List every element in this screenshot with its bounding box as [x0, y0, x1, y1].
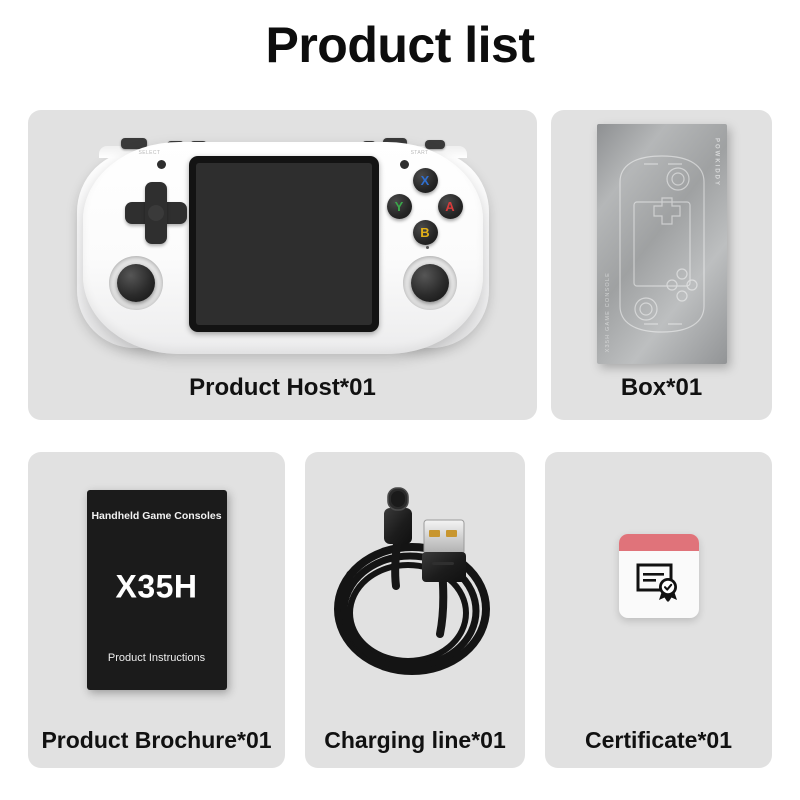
dpad-center	[148, 205, 164, 221]
brochure-cover: Handheld Game Consoles X35H Product Inst…	[87, 490, 227, 690]
certificate-accent-bar	[619, 534, 699, 551]
face-button-cluster: X Y A B	[387, 168, 463, 248]
certificate-card	[619, 534, 699, 618]
usb-cable-art	[320, 474, 510, 689]
product-card-product-host[interactable]: SELECT START X Y A B Product Host*01	[28, 110, 537, 420]
product-card-certificate[interactable]: Certificate*01	[545, 452, 772, 768]
usb-a-connector	[422, 520, 466, 582]
console-screen-bezel	[189, 156, 379, 332]
handheld-console-illustration: SELECT START X Y A B	[73, 120, 493, 370]
product-list-page: Product list SELECT START	[0, 0, 800, 800]
face-button-x: X	[413, 168, 438, 193]
analog-stick-left	[109, 256, 163, 310]
start-label: START	[411, 150, 429, 156]
dpad	[125, 182, 187, 244]
product-card-charging-line[interactable]: Charging line*01	[305, 452, 525, 768]
brochure-illustration: Handheld Game Consoles X35H Product Inst…	[87, 490, 227, 690]
product-card-box[interactable]: POWKIDDY X35H GAME CONSOLE Box*01	[551, 110, 772, 420]
box-console-outline-art	[608, 146, 716, 342]
product-card-product-brochure[interactable]: Handheld Game Consoles X35H Product Inst…	[28, 452, 285, 768]
face-button-y: Y	[387, 194, 412, 219]
box-card: POWKIDDY X35H GAME CONSOLE	[597, 124, 727, 364]
box-model-text: X35H GAME CONSOLE	[605, 272, 611, 352]
product-label-charging-line: Charging line*01	[305, 727, 525, 754]
box-brand-text: POWKIDDY	[714, 138, 720, 187]
product-label-product-brochure: Product Brochure*01	[28, 727, 285, 754]
face-button-b: B	[413, 220, 438, 245]
select-label: SELECT	[139, 150, 161, 156]
certificate-award-icon	[636, 562, 682, 602]
brochure-model: X35H	[87, 569, 227, 606]
usb-c-connector	[384, 488, 412, 544]
certificate-illustration	[619, 534, 699, 618]
face-button-a: A	[438, 194, 463, 219]
analog-stick-right	[403, 256, 457, 310]
product-label-box: Box*01	[551, 374, 772, 402]
charging-cable-illustration	[320, 474, 510, 689]
page-title: Product list	[0, 16, 800, 74]
console-screen	[196, 163, 372, 325]
select-button	[157, 160, 166, 169]
box-illustration: POWKIDDY X35H GAME CONSOLE	[597, 124, 727, 364]
brochure-heading: Handheld Game Consoles	[87, 510, 227, 522]
brochure-subtitle: Product Instructions	[87, 652, 227, 664]
product-label-certificate: Certificate*01	[545, 727, 772, 754]
product-label-product-host: Product Host*01	[28, 374, 537, 402]
shoulder-button-r2	[425, 140, 445, 149]
power-led	[426, 246, 429, 249]
